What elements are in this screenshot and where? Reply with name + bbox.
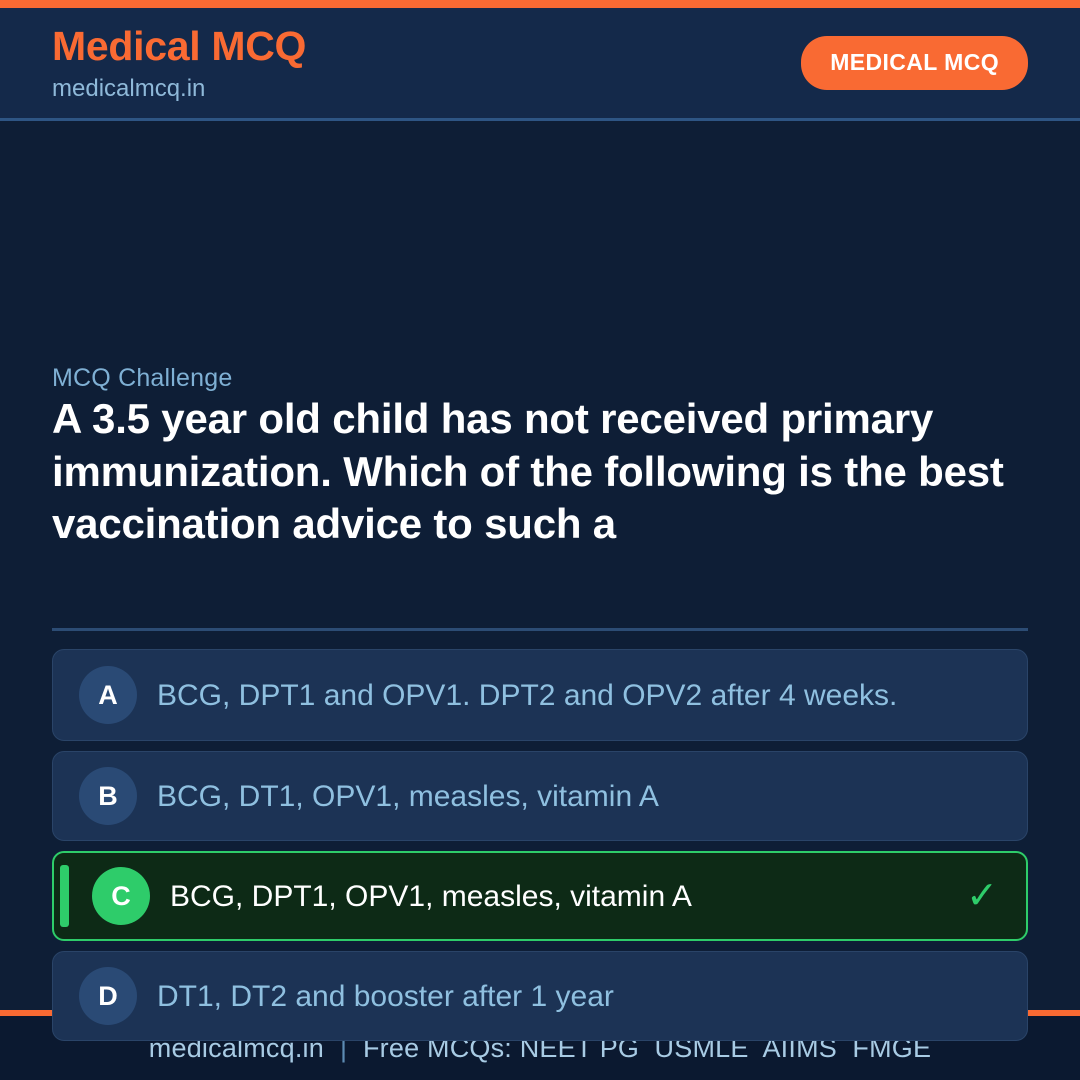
option-d-text: DT1, DT2 and booster after 1 year <box>157 977 961 1016</box>
question-divider <box>52 628 1028 631</box>
option-a[interactable]: A BCG, DPT1 and OPV1. DPT2 and OPV2 afte… <box>52 649 1028 741</box>
top-accent-rule <box>0 0 1080 8</box>
mcq-card: Medical MCQ medicalmcq.in MEDICAL MCQ MC… <box>0 0 1080 1080</box>
option-b[interactable]: B BCG, DT1, OPV1, measles, vitamin A ✓ <box>52 751 1028 841</box>
brand-block: Medical MCQ medicalmcq.in <box>52 25 306 101</box>
option-a-text: BCG, DPT1 and OPV1. DPT2 and OPV2 after … <box>157 676 961 715</box>
option-c[interactable]: C BCG, DPT1, OPV1, measles, vitamin A ✓ <box>52 851 1028 941</box>
header-bar: Medical MCQ medicalmcq.in MEDICAL MCQ <box>0 8 1080 121</box>
brand-url: medicalmcq.in <box>52 76 306 101</box>
correct-accent-bar <box>60 865 69 927</box>
option-d-badge: D <box>79 967 137 1025</box>
option-a-badge: A <box>79 666 137 724</box>
option-c-text: BCG, DPT1, OPV1, measles, vitamin A <box>170 877 960 916</box>
option-b-badge: B <box>79 767 137 825</box>
brand-title: Medical MCQ <box>52 25 306 68</box>
kicker-label: MCQ Challenge <box>52 364 232 393</box>
header-badge: MEDICAL MCQ <box>801 36 1028 90</box>
question-area: MCQ Challenge A 3.5 year old child has n… <box>0 121 1080 1010</box>
option-d[interactable]: D DT1, DT2 and booster after 1 year ✓ <box>52 951 1028 1041</box>
check-icon: ✓ <box>960 877 1004 915</box>
option-b-text: BCG, DT1, OPV1, measles, vitamin A <box>157 777 961 816</box>
question-text: A 3.5 year old child has not received pr… <box>52 393 1028 551</box>
option-c-badge: C <box>92 867 150 925</box>
options-list: A BCG, DPT1 and OPV1. DPT2 and OPV2 afte… <box>52 649 1028 1041</box>
